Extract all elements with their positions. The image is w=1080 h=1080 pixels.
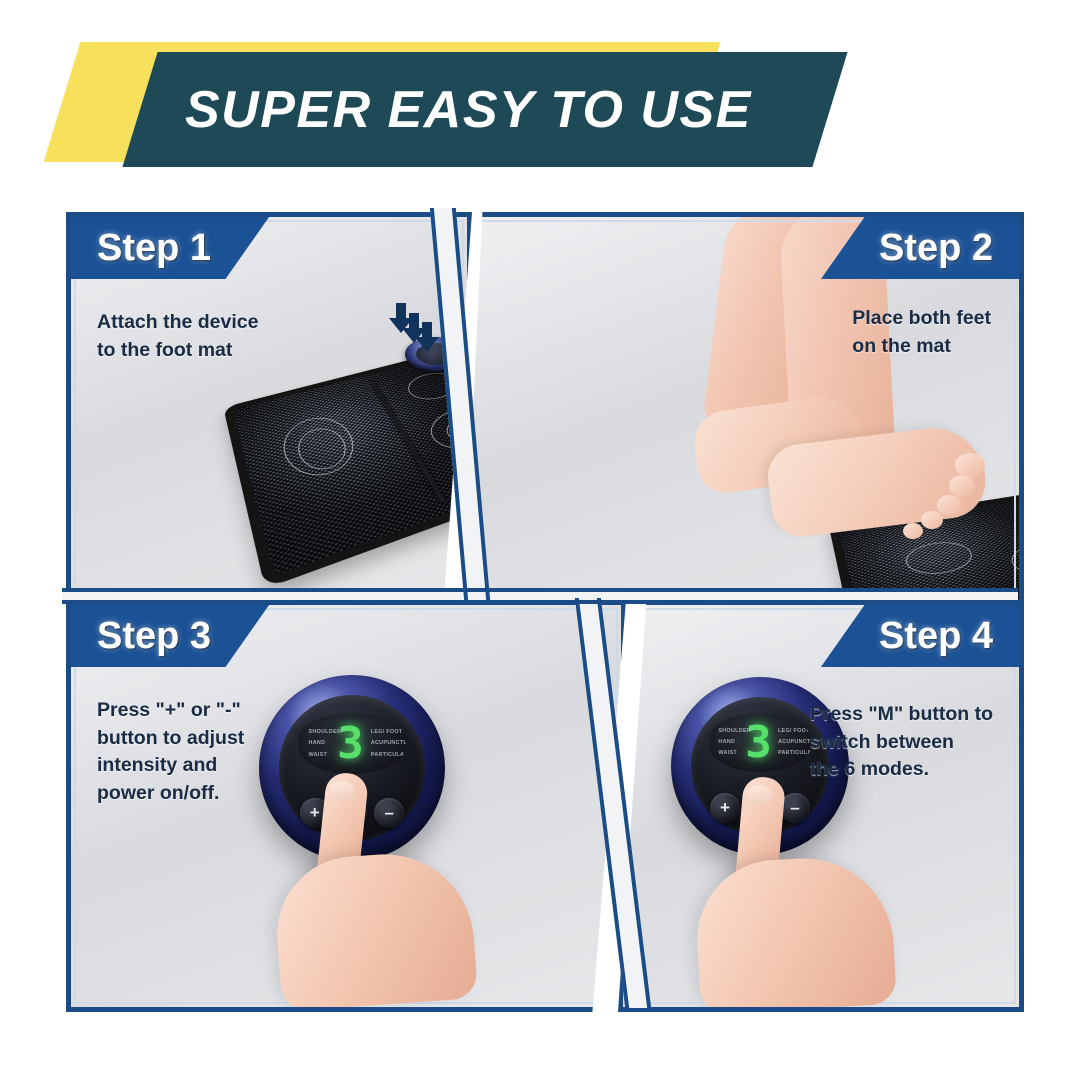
display-label: ACUPUNCTURE <box>778 739 811 745</box>
display-label: PARTICULAR <box>371 752 406 758</box>
header-banner: SUPER EASY TO USE <box>0 0 1080 200</box>
display-label: WAIST <box>718 750 737 756</box>
step-panel-3: Step 3 Press "+" or "-" button to adjust… <box>66 600 626 1012</box>
step-panel-1: Step 1 Attach the device to the foot mat <box>66 212 472 604</box>
display-label: SHOULDER <box>309 729 342 735</box>
toe <box>921 511 943 529</box>
plus-button[interactable]: + <box>710 793 740 823</box>
step-badge-4: Step 4 <box>821 605 1019 667</box>
step-caption-1: Attach the device to the foot mat <box>97 309 258 364</box>
hand <box>272 848 478 1011</box>
step-badge-4-label: Step 4 <box>879 615 993 658</box>
toe <box>949 475 975 497</box>
toe <box>903 523 923 539</box>
minus-button[interactable]: – <box>374 798 404 828</box>
toe <box>955 453 985 477</box>
step-caption-3: Press "+" or "-" button to adjust intens… <box>97 697 244 808</box>
display-label: HAND <box>309 740 326 746</box>
step-badge-3-label: Step 3 <box>97 615 211 658</box>
mat-center-divider <box>370 381 446 503</box>
page-title: SUPER EASY TO USE <box>185 52 845 167</box>
display-label: ACUPUNCTURE <box>371 740 406 746</box>
step-caption-4: Press "M" button to switch between the 6… <box>810 701 993 784</box>
step-badge-1: Step 1 <box>71 217 269 279</box>
mat-swirl-pattern <box>402 369 464 404</box>
display-label: SHOULDER <box>718 728 751 734</box>
display-label: WAIST <box>309 752 328 758</box>
display-labels-right: LEG/ FOOT ACUPUNCTURE PARTICULAR <box>364 720 403 768</box>
steps-grid: Step 1 Attach the device to the foot mat <box>66 212 1014 1002</box>
display-label: LEG/ FOOT <box>371 729 403 735</box>
down-arrows-group <box>401 303 427 322</box>
step-panel-4: Step 4 Press "M" button to switch betwee… <box>618 600 1024 1012</box>
display-label: PARTICULAR <box>778 750 811 756</box>
step-caption-2: Place both feet on the mat <box>852 305 991 360</box>
display-labels-left: SHOULDER HAND WAIST <box>301 720 336 768</box>
step-panel-2: Step 2 Place both feet on the mat <box>464 212 1024 604</box>
display-labels-left: SHOULDER HAND WAIST <box>711 720 745 765</box>
mat-texture <box>233 345 472 576</box>
remote-display: SHOULDER HAND WAIST 3 LEG/ FOOT ACUPUNCT… <box>709 713 812 771</box>
step-badge-3: Step 3 <box>71 605 269 667</box>
mat-swirl-pattern <box>901 538 979 579</box>
step-badge-2-label: Step 2 <box>879 227 993 270</box>
hand <box>693 854 897 1012</box>
mat-swirl-pattern <box>1004 538 1024 581</box>
foot-mat-image <box>223 340 472 589</box>
display-labels-right: LEG/ FOOT ACUPUNCTURE PARTICULAR <box>772 720 809 765</box>
display-label: HAND <box>718 739 735 745</box>
display-label: LEG/ FOOT <box>778 728 810 734</box>
toe <box>937 495 961 515</box>
step-badge-1-label: Step 1 <box>97 227 211 270</box>
remote-display: SHOULDER HAND WAIST 3 LEG/ FOOT ACUPUNCT… <box>298 713 405 774</box>
